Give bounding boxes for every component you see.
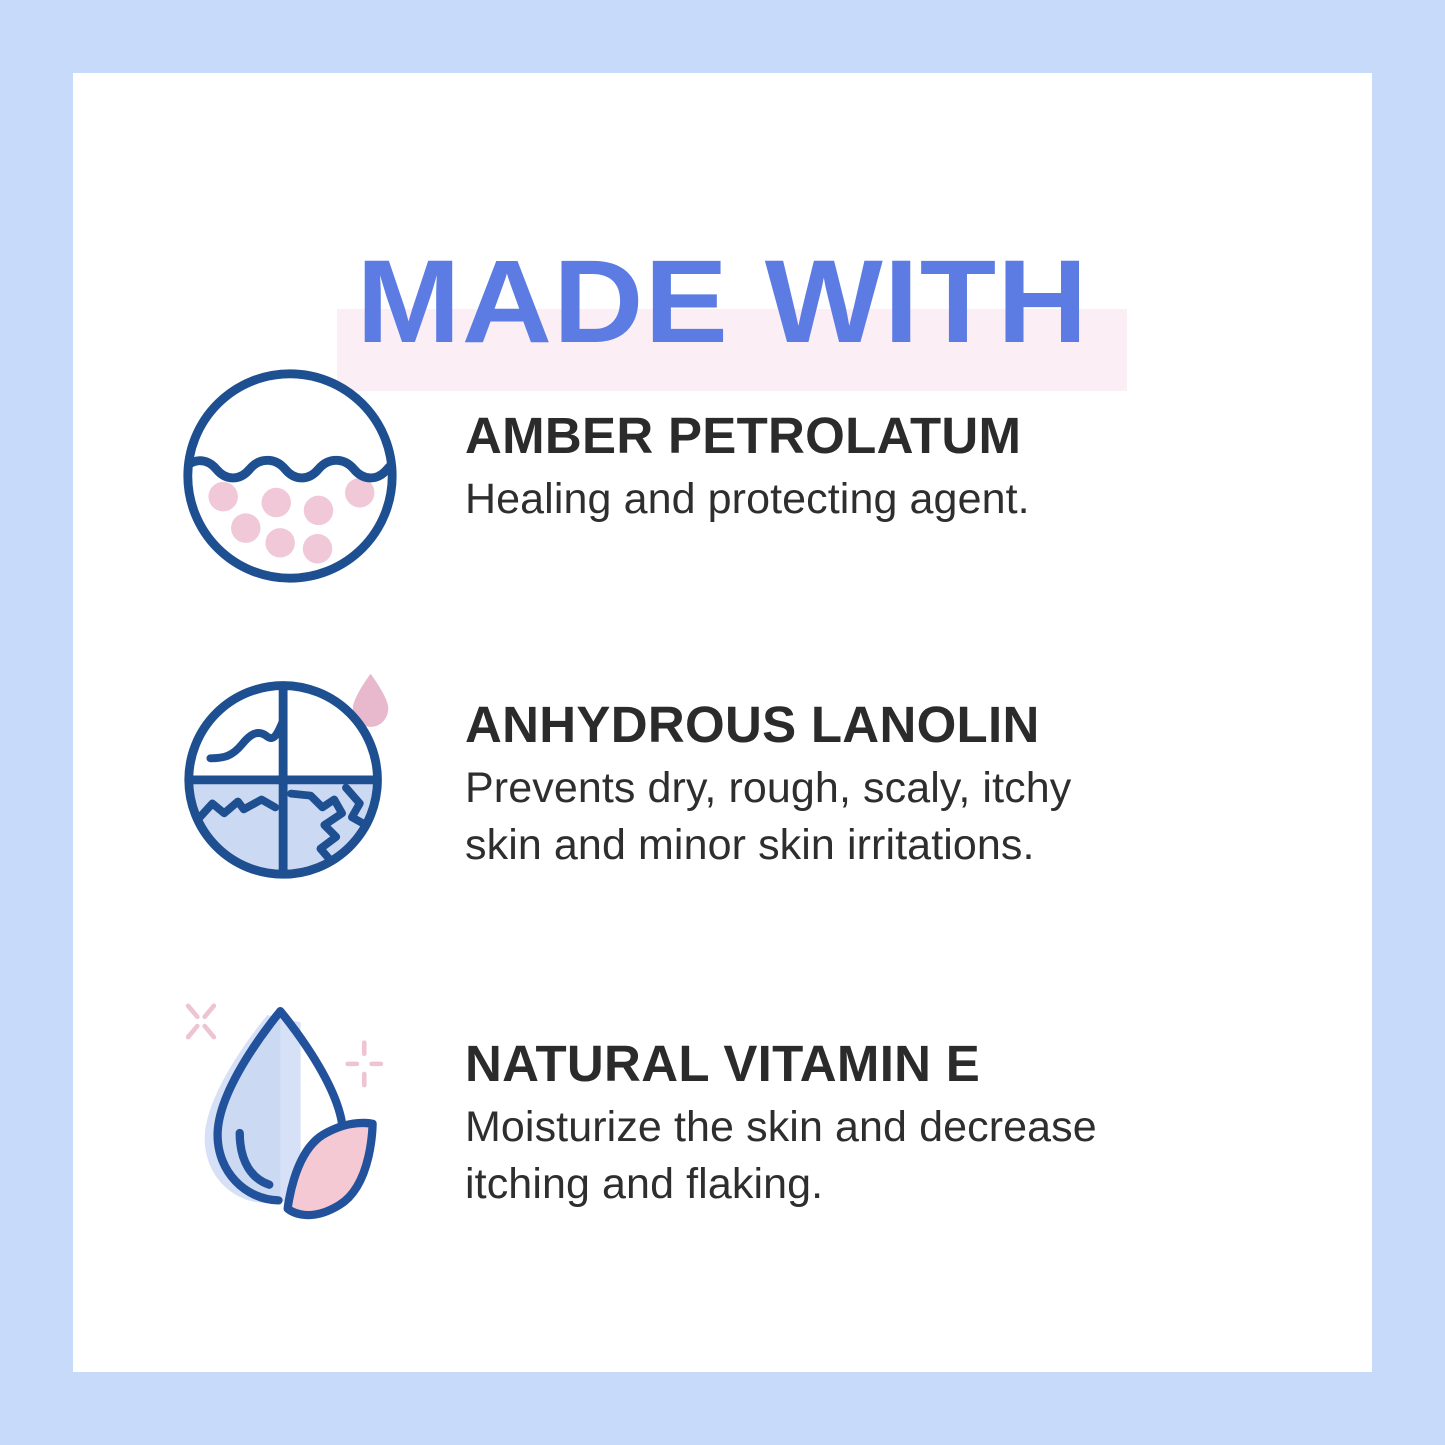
ingredient-row-3: NATURAL VITAMIN E Moisturize the skin an… [73, 985, 1372, 1235]
ingredient-row-1: AMBER PETROLATUM Healing and protecting … [73, 361, 1372, 591]
sparkle-right-icon [348, 1043, 381, 1085]
ingredient-text-2: ANHYDROUS LANOLIN Prevents dry, rough, s… [403, 658, 1125, 874]
ingredient-row-2: ANHYDROUS LANOLIN Prevents dry, rough, s… [73, 658, 1372, 888]
ingredient-name-1: AMBER PETROLATUM [465, 407, 1030, 465]
ingredient-text-1: AMBER PETROLATUM Healing and protecting … [403, 361, 1030, 528]
circle-quadrants-cracked-skin-icon [177, 658, 403, 888]
circle-waves-droplets-icon [177, 361, 403, 591]
ingredient-name-2: ANHYDROUS LANOLIN [465, 696, 1125, 754]
ingredient-description-3: Moisturize the skin and decrease itching… [465, 1099, 1125, 1213]
ingredient-icon-1-cell [73, 361, 403, 591]
ingredient-description-2: Prevents dry, rough, scaly, itchy skin a… [465, 760, 1125, 874]
ingredient-text-3: NATURAL VITAMIN E Moisturize the skin an… [403, 985, 1125, 1213]
content-panel: MADE WITH [73, 73, 1372, 1372]
sparkle-top-left-icon [188, 1006, 214, 1037]
ingredient-name-3: NATURAL VITAMIN E [465, 1035, 1125, 1093]
ingredient-icon-2-cell [73, 658, 403, 888]
ingredient-description-1: Healing and protecting agent. [465, 471, 1030, 528]
page-title: MADE WITH [34, 243, 1411, 361]
ingredient-icon-3-cell [73, 985, 403, 1235]
infographic-canvas: MADE WITH [0, 0, 1445, 1445]
droplet-leaf-sparkle-icon [177, 985, 403, 1235]
